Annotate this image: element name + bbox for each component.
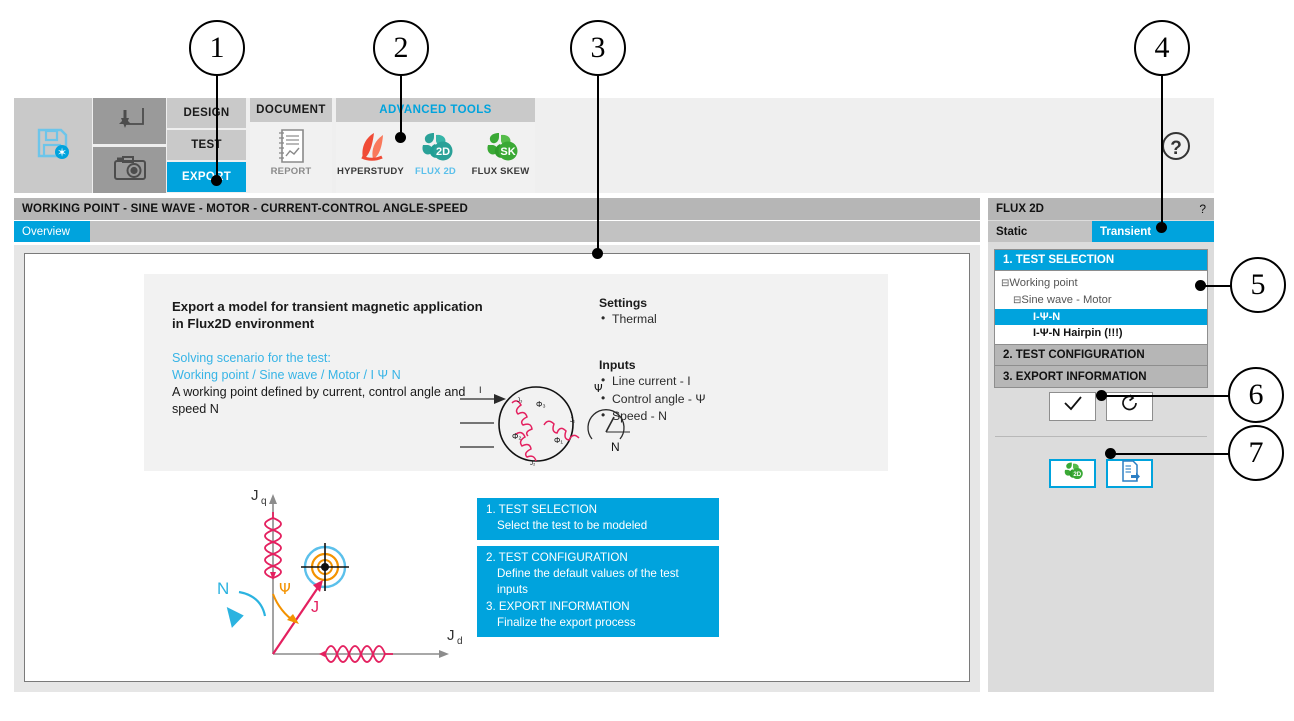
save-button[interactable]: ✶ xyxy=(14,98,92,193)
content-area: Export a model for transient magnetic ap… xyxy=(14,245,980,692)
export-flux2d-button[interactable]: 2D xyxy=(1049,459,1096,488)
tab-export[interactable]: EXPORT xyxy=(167,162,246,192)
fluxskew-label: FLUX SKEW xyxy=(472,166,530,177)
callout-dot-7 xyxy=(1105,448,1116,459)
current-vector-diagram: J q J d xyxy=(215,482,465,687)
section-test-configuration[interactable]: 2. TEST CONFIGURATION xyxy=(995,345,1207,366)
callout-dot-2 xyxy=(395,132,406,143)
callout-7-number: 7 xyxy=(1249,436,1264,470)
flux2d-fan-icon: 2D xyxy=(1062,460,1084,486)
svg-text:Φ₂: Φ₂ xyxy=(512,432,522,441)
svg-text:J: J xyxy=(251,487,259,504)
svg-text:N: N xyxy=(217,579,229,598)
ribbon-group-document-title: DOCUMENT xyxy=(250,98,332,122)
screenshot-button[interactable] xyxy=(93,147,166,193)
callout-2-number: 2 xyxy=(394,31,409,65)
overview-heading: Export a model for transient magnetic ap… xyxy=(172,298,502,333)
flux2d-label: FLUX 2D xyxy=(415,166,456,177)
section-test-selection[interactable]: 1. TEST SELECTION xyxy=(995,250,1207,271)
mode-static[interactable]: Static xyxy=(988,221,1092,242)
svg-text:Φ₃: Φ₃ xyxy=(536,400,546,409)
callout-leader-7 xyxy=(1110,453,1231,455)
overview-heading-line2: in Flux2D environment xyxy=(172,316,314,331)
mode-transient[interactable]: Transient xyxy=(1092,221,1214,242)
ribbon-group-advanced-tools: ADVANCED TOOLS HYPERSTUDY xyxy=(336,98,535,193)
callout-7: 7 xyxy=(1228,425,1284,481)
callout-5: 5 xyxy=(1230,257,1286,313)
callout-3-number: 3 xyxy=(591,31,606,65)
help-button[interactable]: ? xyxy=(1160,130,1192,162)
svg-text:✶: ✶ xyxy=(57,146,67,160)
overview-heading-line1: Export a model for transient magnetic ap… xyxy=(172,299,483,314)
panel-divider xyxy=(995,436,1207,437)
step-box-3: 3. EXPORT INFORMATION Finalize the expor… xyxy=(477,595,719,637)
settings-list: Thermal xyxy=(599,311,839,328)
page-title: WORKING POINT - SINE WAVE - MOTOR - CURR… xyxy=(14,198,980,220)
hyperstudy-label: HYPERSTUDY xyxy=(337,166,404,177)
report-button-label: REPORT xyxy=(271,166,312,177)
list-item: Thermal xyxy=(599,311,839,328)
side-panel-title: FLUX 2D xyxy=(996,203,1044,215)
overview-description-box: Export a model for transient magnetic ap… xyxy=(144,274,888,471)
save-disk-icon: ✶ xyxy=(35,125,71,166)
check-icon xyxy=(1062,395,1084,418)
svg-text:d: d xyxy=(457,636,463,647)
callout-6-number: 6 xyxy=(1249,378,1264,412)
step-box-2-title: 2. TEST CONFIGURATION xyxy=(486,550,711,566)
overview-scenario: Solving scenario for the test: Working p… xyxy=(172,350,502,384)
svg-text:J₃: J₃ xyxy=(517,398,523,404)
side-panel-help-icon[interactable]: ? xyxy=(1199,202,1206,216)
camera-icon xyxy=(113,154,147,187)
svg-text:2D: 2D xyxy=(1073,471,1081,478)
tree-node-label: Sine wave - Motor xyxy=(1021,294,1111,306)
tab-bar: Overview xyxy=(14,221,980,242)
refresh-icon xyxy=(1120,394,1140,419)
callout-1: 1 xyxy=(189,20,245,76)
callout-leader-4 xyxy=(1161,66,1163,228)
hyperstudy-icon xyxy=(354,126,388,166)
tree-node-label: Working point xyxy=(1009,277,1077,289)
step-box-1: 1. TEST SELECTION Select the test to be … xyxy=(477,498,719,540)
fluxskew-button[interactable]: SK FLUX SKEW xyxy=(468,122,533,193)
side-panel-header: FLUX 2D ? xyxy=(988,198,1214,220)
panel-export-buttons: 2D xyxy=(988,441,1214,505)
scenario-description: A working point defined by current, cont… xyxy=(172,384,502,418)
ribbon-tabs: DESIGN TEST EXPORT xyxy=(167,98,246,193)
settings-heading: Settings xyxy=(599,296,839,310)
mode-selector: Static Transient xyxy=(988,221,1214,242)
motor-schematic-figure: I J₃ J₂ J₁ Φ₃ Φ₂ Φ₁ Ψ xyxy=(454,377,664,477)
callout-6: 6 xyxy=(1228,367,1284,423)
tree-node-i-psi-n[interactable]: I-Ψ-N xyxy=(995,309,1207,325)
callout-dot-3 xyxy=(592,248,603,259)
callout-leader-6 xyxy=(1101,395,1231,397)
report-document-icon xyxy=(276,126,306,166)
fluxskew-fan-icon: SK xyxy=(483,126,519,166)
scenario-label: Solving scenario for the test: xyxy=(172,351,331,365)
panel-action-buttons xyxy=(988,374,1214,438)
scenario-path: Working point / Sine wave / Motor / I Ψ … xyxy=(172,368,401,382)
callout-4-number: 4 xyxy=(1155,31,1170,65)
undo-button[interactable] xyxy=(93,98,166,144)
tree-node-i-psi-n-hairpin[interactable]: I-Ψ-N Hairpin (!!!) xyxy=(995,325,1207,341)
svg-text:N: N xyxy=(611,440,620,454)
test-selection-tree: ⊟Working point ⊟Sine wave - Motor I-Ψ-N … xyxy=(995,271,1207,345)
svg-text:2D: 2D xyxy=(435,146,449,158)
step-box-2-desc: Define the default values of the test in… xyxy=(486,566,711,598)
svg-text:Φ₁: Φ₁ xyxy=(554,436,563,445)
hyperstudy-button[interactable]: HYPERSTUDY xyxy=(338,122,403,193)
callout-leader-2 xyxy=(400,66,402,138)
inputs-heading: Inputs xyxy=(599,358,839,372)
step-box-1-desc: Select the test to be modeled xyxy=(486,518,711,534)
overview-panel: Export a model for transient magnetic ap… xyxy=(24,253,970,682)
export-file-button[interactable] xyxy=(1106,459,1153,488)
step-box-1-title: 1. TEST SELECTION xyxy=(486,502,711,518)
step-box-3-title: 3. EXPORT INFORMATION xyxy=(486,599,711,615)
svg-text:J: J xyxy=(447,627,455,644)
callout-dot-6 xyxy=(1096,390,1107,401)
flux2d-button[interactable]: 2D FLUX 2D xyxy=(403,122,468,193)
flux2d-side-panel: FLUX 2D ? Static Transient 1. TEST SELEC… xyxy=(988,198,1214,692)
callout-leader-3 xyxy=(597,66,599,254)
callout-4: 4 xyxy=(1134,20,1190,76)
callout-1-number: 1 xyxy=(210,31,225,65)
svg-text:J₂: J₂ xyxy=(530,461,536,467)
help-question-icon: ? xyxy=(1160,149,1192,166)
callout-leader-1 xyxy=(216,66,218,182)
wizard-sections: 1. TEST SELECTION ⊟Working point ⊟Sine w… xyxy=(994,249,1208,388)
callout-dot-4 xyxy=(1156,222,1167,233)
validate-button[interactable] xyxy=(1049,392,1096,421)
tab-design[interactable]: DESIGN xyxy=(167,98,246,128)
tab-test[interactable]: TEST xyxy=(167,130,246,160)
ribbon-group-document: DOCUMENT xyxy=(250,98,332,193)
callout-3: 3 xyxy=(570,20,626,76)
ribbon-group-advanced-title: ADVANCED TOOLS xyxy=(336,98,535,122)
callout-5-number: 5 xyxy=(1251,268,1266,302)
report-button[interactable]: REPORT xyxy=(259,122,324,193)
callout-dot-5 xyxy=(1195,280,1206,291)
ribbon-mid-buttons xyxy=(93,98,166,193)
svg-text:I: I xyxy=(479,385,482,395)
ribbon-toolbar: ✶ xyxy=(14,98,1214,193)
step-box-3-desc: Finalize the export process xyxy=(486,615,711,631)
svg-text:J₁: J₁ xyxy=(570,418,575,424)
flux2d-fan-icon: 2D xyxy=(418,126,454,166)
export-document-icon xyxy=(1120,460,1140,487)
svg-text:Ψ: Ψ xyxy=(279,580,291,598)
tab-overview[interactable]: Overview xyxy=(14,221,90,242)
svg-text:q: q xyxy=(261,496,267,507)
svg-text:SK: SK xyxy=(500,146,515,158)
svg-text:Ψ: Ψ xyxy=(594,382,603,395)
overview-text-block: Export a model for transient magnetic ap… xyxy=(172,298,502,418)
tree-node-working-point[interactable]: ⊟Working point xyxy=(995,275,1207,292)
callout-dot-1 xyxy=(211,175,222,186)
undo-arrow-icon xyxy=(113,104,147,139)
tree-node-sine-wave-motor[interactable]: ⊟Sine wave - Motor xyxy=(995,292,1207,309)
svg-text:J: J xyxy=(311,599,319,616)
callout-2: 2 xyxy=(373,20,429,76)
svg-text:?: ? xyxy=(1170,138,1182,159)
